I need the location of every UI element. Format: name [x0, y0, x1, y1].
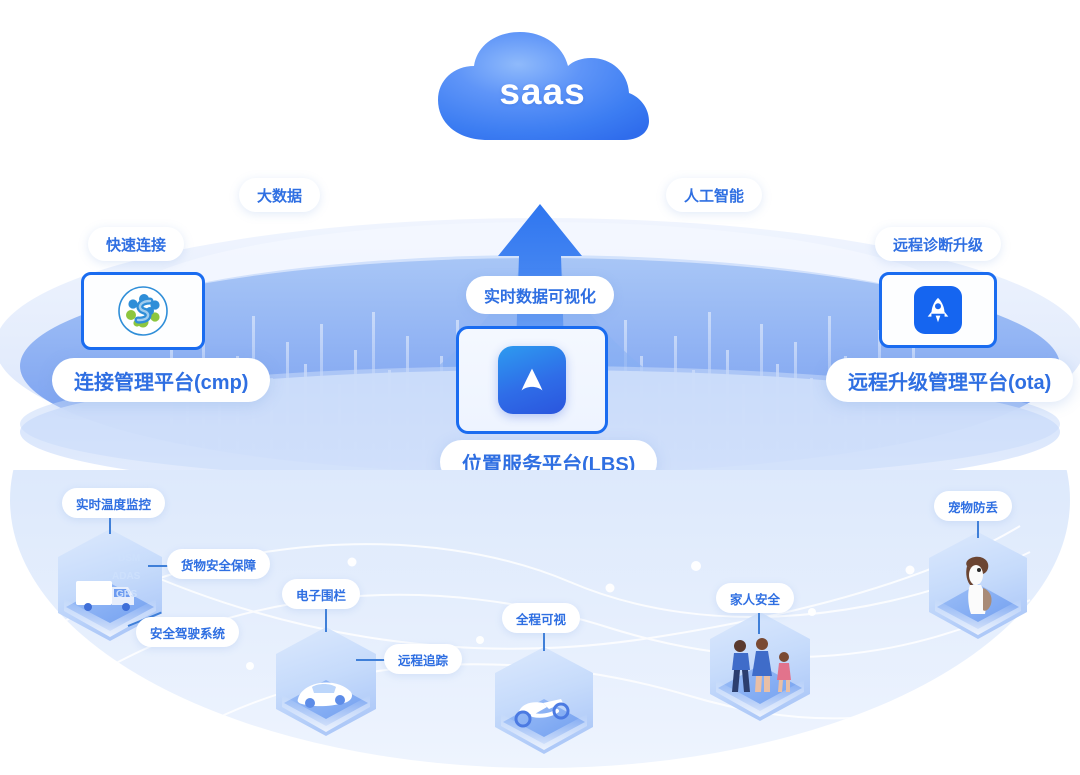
- tag-remote-diagnosis[interactable]: 远程诊断升级: [875, 227, 1001, 261]
- device-label-remote-tracking[interactable]: 远程追踪: [384, 644, 462, 674]
- tag-big-data[interactable]: 大数据: [239, 178, 320, 212]
- iot-platform-diagram: saas 大数据 人工智能 快速连接 远程诊断升级 实时数据可视化: [0, 0, 1080, 775]
- svg-text:ADAS: ADAS: [112, 571, 141, 582]
- platform-label-ota-text: 远程升级管理平台(ota): [848, 366, 1051, 395]
- device-label-geofence[interactable]: 电子围栏: [282, 579, 360, 609]
- connector-car-top: [325, 608, 327, 632]
- cloud-label: saas: [430, 28, 655, 150]
- device-label-cargo-safety-text: 货物安全保障: [181, 555, 256, 574]
- tag-remote-diagnosis-label: 远程诊断升级: [893, 234, 983, 255]
- tag-ai[interactable]: 人工智能: [666, 178, 762, 212]
- rocket-icon: [914, 286, 962, 334]
- device-label-temp-monitor-text: 实时温度监控: [76, 494, 151, 513]
- device-label-safe-driving-text: 安全驾驶系统: [150, 623, 225, 642]
- device-label-temp-monitor[interactable]: 实时温度监控: [62, 488, 165, 518]
- device-label-geofence-text: 电子围栏: [296, 585, 346, 604]
- network-s-logo-icon: [117, 285, 169, 337]
- tag-ai-label: 人工智能: [684, 185, 744, 206]
- device-label-remote-tracking-text: 远程追踪: [398, 650, 448, 669]
- platform-label-lbs[interactable]: 位置服务平台(LBS): [440, 440, 657, 484]
- navigation-arrow-icon: [498, 346, 566, 414]
- platform-label-ota[interactable]: 远程升级管理平台(ota): [826, 358, 1073, 402]
- platform-card-ota[interactable]: [879, 272, 997, 348]
- device-hex-scooter[interactable]: [489, 645, 599, 765]
- platform-label-cmp[interactable]: 连接管理平台(cmp): [52, 358, 270, 402]
- device-label-family-safety-text: 家人安全: [730, 589, 780, 608]
- connector-family-top: [758, 610, 760, 634]
- device-label-full-visibility[interactable]: 全程可视: [502, 603, 580, 633]
- connector-pet-top: [977, 518, 979, 538]
- svg-text:GPS: GPS: [116, 589, 137, 600]
- tag-realtime-visualization[interactable]: 实时数据可视化: [466, 276, 614, 314]
- device-hex-car[interactable]: [270, 625, 382, 747]
- saas-cloud: saas: [430, 28, 655, 150]
- connector-car-right: [356, 659, 386, 661]
- device-hex-family[interactable]: [704, 610, 816, 732]
- tag-fast-connect-label: 快速连接: [106, 234, 166, 255]
- device-label-cargo-safety[interactable]: 货物安全保障: [167, 549, 270, 579]
- platform-label-lbs-text: 位置服务平台(LBS): [462, 448, 635, 477]
- device-hex-pet[interactable]: [923, 530, 1033, 650]
- platform-label-cmp-text: 连接管理平台(cmp): [74, 366, 248, 395]
- platform-card-lbs[interactable]: [456, 326, 608, 434]
- tag-fast-connect[interactable]: 快速连接: [88, 227, 184, 261]
- platform-card-cmp[interactable]: [81, 272, 205, 350]
- tag-big-data-label: 大数据: [257, 185, 302, 206]
- svg-text:DSM: DSM: [118, 553, 140, 564]
- device-label-pet-tracking[interactable]: 宠物防丢: [934, 491, 1012, 521]
- device-label-safe-driving[interactable]: 安全驾驶系统: [136, 617, 239, 647]
- device-label-full-visibility-text: 全程可视: [516, 609, 566, 628]
- device-label-family-safety[interactable]: 家人安全: [716, 583, 794, 613]
- device-label-pet-tracking-text: 宠物防丢: [948, 497, 998, 516]
- tag-realtime-visualization-label: 实时数据可视化: [484, 283, 596, 307]
